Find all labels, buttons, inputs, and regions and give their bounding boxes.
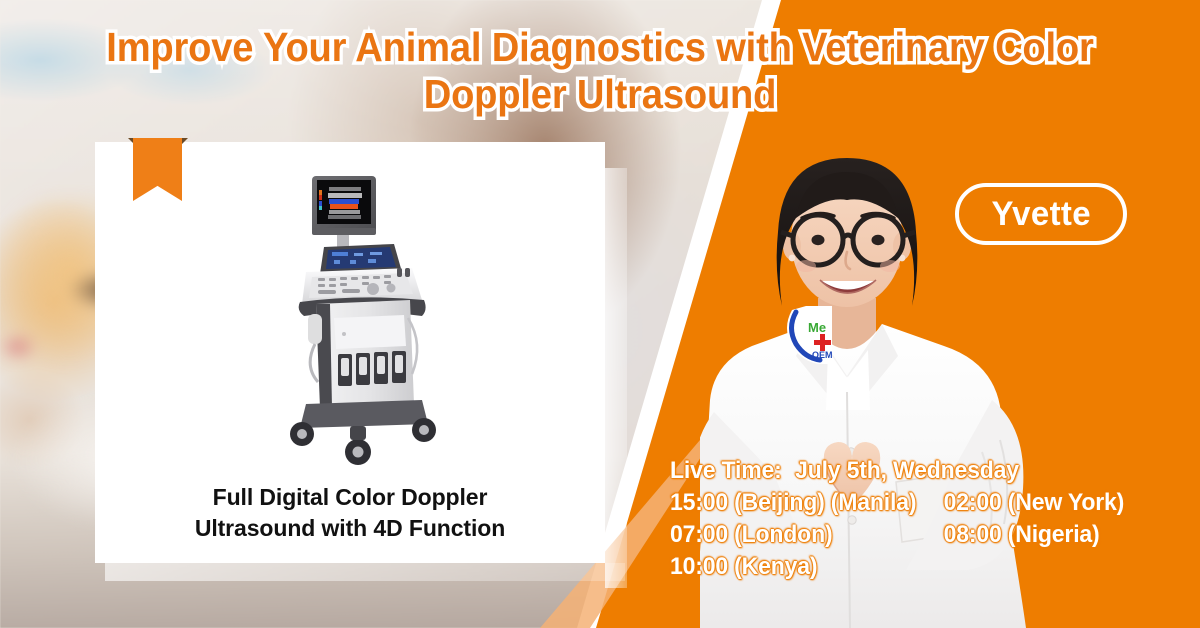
schedule-time-left: 07:00 (London) bbox=[670, 519, 944, 551]
presenter-name-label: Yvette bbox=[991, 195, 1091, 234]
schedule-label: Live Time: bbox=[670, 457, 782, 484]
webinar-promo-banner: Me OEM bbox=[0, 0, 1200, 628]
banner-headline: Improve Your Animal Diagnostics with Vet… bbox=[0, 24, 1200, 117]
caption-line-1: Full Digital Color Doppler bbox=[95, 482, 605, 513]
schedule-time-left: 10:00 (Kenya) bbox=[670, 551, 944, 583]
headline-line-1: Improve Your Animal Diagnostics with Vet… bbox=[42, 24, 1158, 71]
schedule-row: 10:00 (Kenya) bbox=[670, 551, 1150, 583]
schedule-row: 07:00 (London) 08:00 (Nigeria) bbox=[670, 519, 1150, 551]
caption-line-2: Ultrasound with 4D Function bbox=[95, 513, 605, 544]
schedule-time-right: 02:00 (New York) bbox=[944, 487, 1124, 519]
svg-text:OEM: OEM bbox=[812, 350, 833, 360]
live-schedule: Live Time:July 5th, Wednesday 15:00 (Bei… bbox=[670, 455, 1170, 583]
presenter-name-badge: Yvette bbox=[955, 183, 1127, 245]
product-card-bottom-band bbox=[105, 563, 625, 581]
schedule-date: July 5th, Wednesday bbox=[795, 457, 1019, 484]
schedule-row: 15:00 (Beijing) (Manila) 02:00 (New York… bbox=[670, 487, 1150, 519]
svg-text:Me: Me bbox=[808, 320, 826, 335]
schedule-time-left: 15:00 (Beijing) (Manila) bbox=[670, 487, 944, 519]
headline-line-2: Doppler Ultrasound bbox=[42, 71, 1158, 118]
schedule-time-right: 08:00 (Nigeria) bbox=[944, 519, 1100, 551]
product-card-caption: Full Digital Color Doppler Ultrasound wi… bbox=[95, 482, 605, 543]
schedule-header: Live Time:July 5th, Wednesday bbox=[670, 455, 1150, 487]
ultrasound-cart-icon bbox=[272, 168, 452, 468]
product-card-sheen bbox=[605, 168, 627, 588]
